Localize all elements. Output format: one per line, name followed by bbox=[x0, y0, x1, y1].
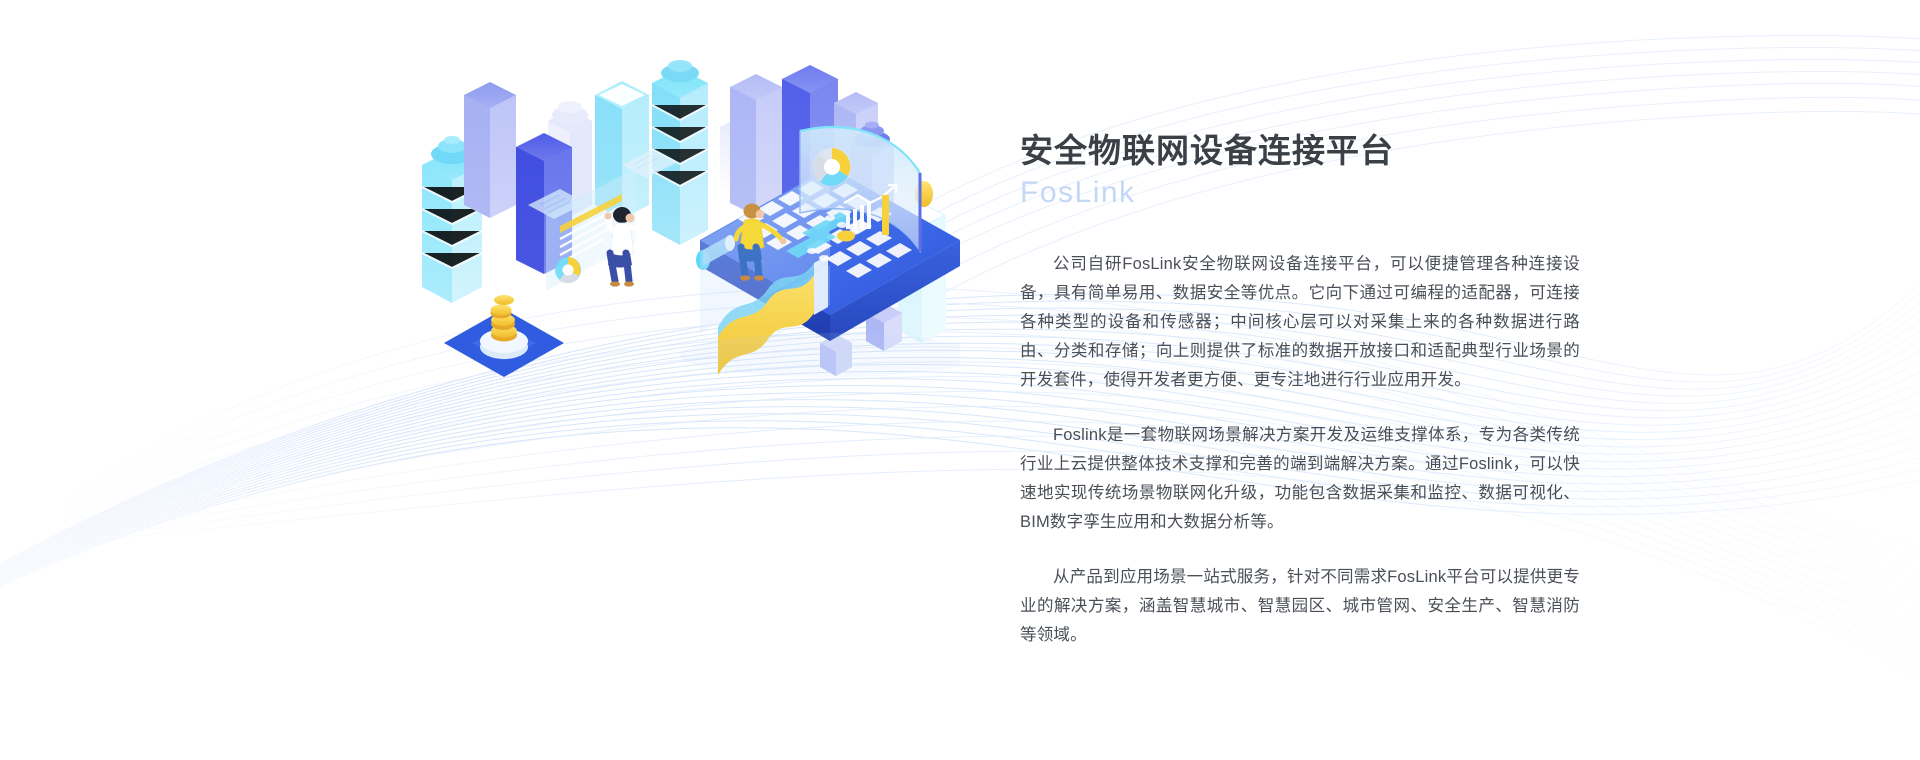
donut-chart-large bbox=[813, 148, 851, 186]
paragraph-2: Foslink是一套物联网场景解决方案开发及运维支撑体系，专为各类传统行业上云提… bbox=[1020, 421, 1580, 537]
coin-stack-pedestal bbox=[444, 295, 564, 377]
body-copy: 公司自研FosLink安全物联网设备连接平台，可以便捷管理各种连接设备，具有简单… bbox=[1020, 250, 1580, 650]
building-striped-mid bbox=[652, 60, 708, 245]
paragraph-3: 从产品到应用场景一站式服务，针对不同需求FosLink平台可以提供更专业的解决方… bbox=[1020, 563, 1580, 650]
page-subtitle: FosLink bbox=[1020, 173, 1580, 214]
building-purple-slim bbox=[464, 82, 516, 218]
background-wave-lines bbox=[0, 0, 1920, 760]
coin-icon bbox=[837, 231, 855, 242]
hero-text-panel: 安全物联网设备连接平台 FosLink 公司自研FosLink安全物联网设备连接… bbox=[1020, 130, 1580, 650]
coin-stack bbox=[491, 295, 518, 342]
hero-section: 安全物联网设备连接平台 FosLink 公司自研FosLink安全物联网设备连接… bbox=[0, 0, 1920, 760]
page-title: 安全物联网设备连接平台 bbox=[1020, 130, 1580, 171]
isometric-platform-illustration bbox=[400, 55, 960, 395]
paragraph-1: 公司自研FosLink安全物联网设备连接平台，可以便捷管理各种连接设备，具有简单… bbox=[1020, 250, 1580, 395]
donut-chart-small bbox=[555, 257, 581, 283]
